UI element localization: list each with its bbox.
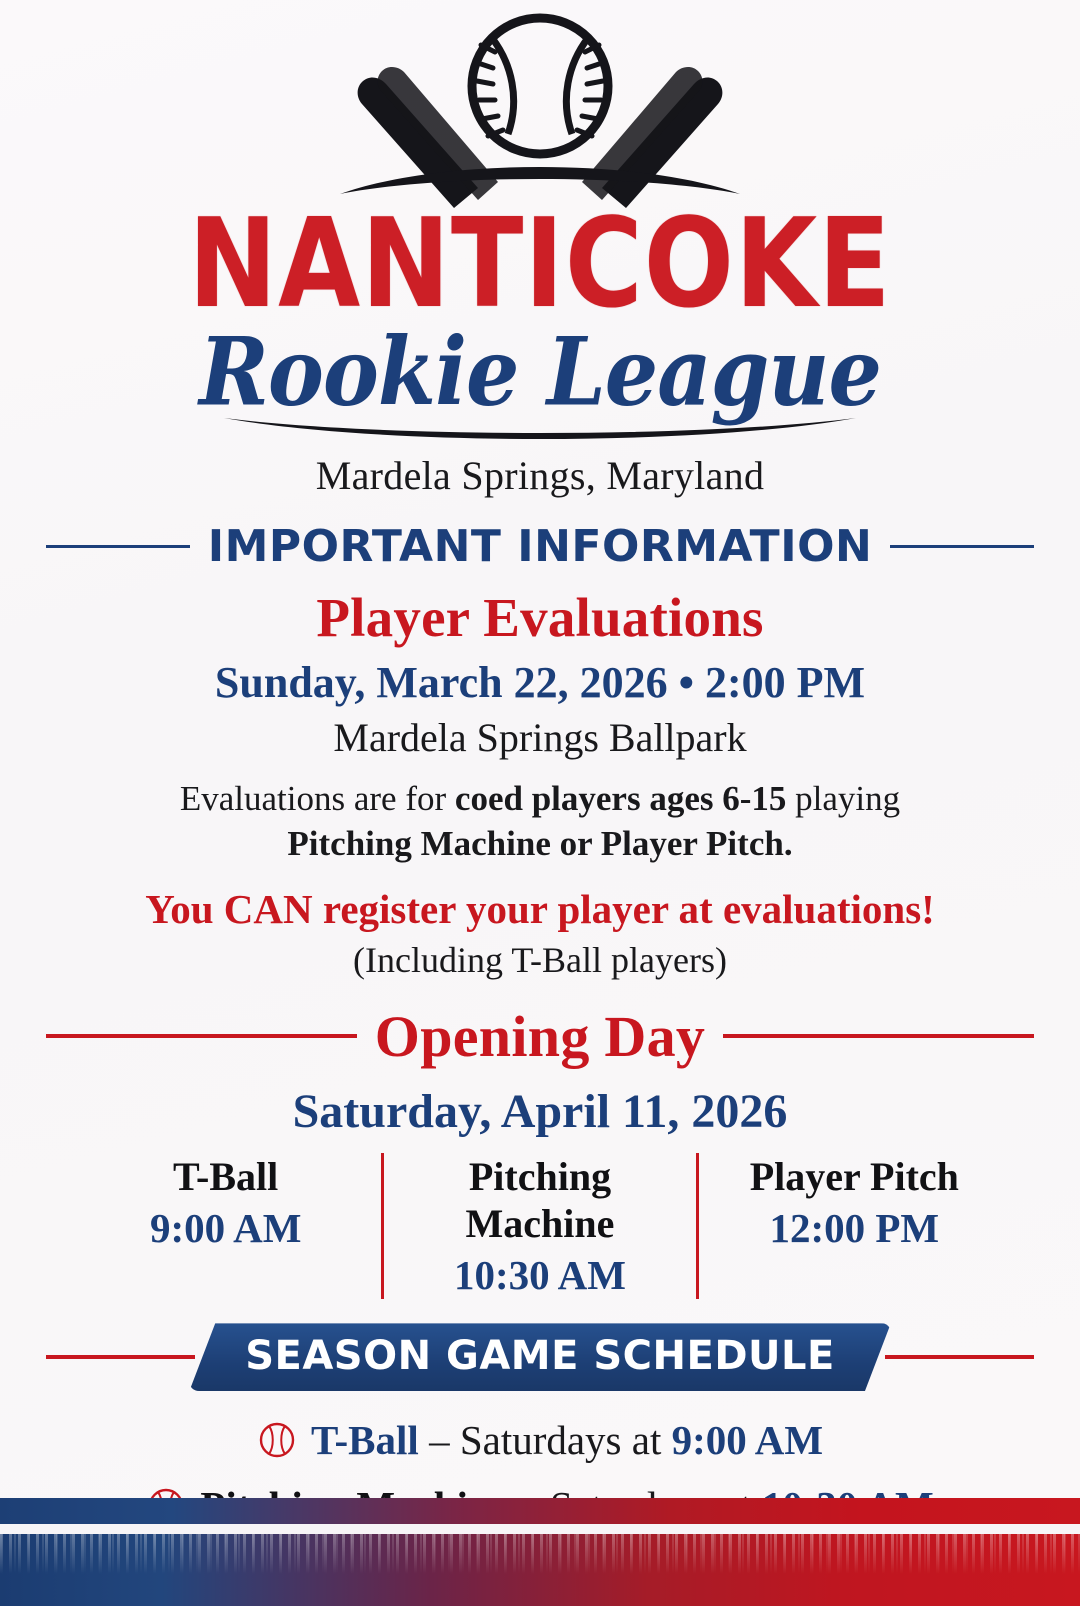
- logo-script-text: Rookie League: [199, 325, 881, 419]
- important-information-label: IMPORTANT INFORMATION: [208, 521, 873, 572]
- heading-rule-left: [46, 545, 190, 548]
- opening-rule-left: [46, 1034, 357, 1038]
- swoosh-underline-icon: [220, 412, 860, 446]
- division-time: 10:30 AM: [392, 1251, 687, 1299]
- evaluations-datetime: Sunday, March 22, 2026 • 2:00 PM: [0, 657, 1080, 708]
- logo-script-wrap: Rookie League: [0, 330, 1080, 438]
- opening-day-label: Opening Day: [375, 1003, 705, 1070]
- schedule-row-text: T-Ball – Saturdays at 9:00 AM: [311, 1416, 823, 1464]
- schedule-time: 9:00 AM: [672, 1417, 823, 1463]
- baseball-icon: [257, 1420, 297, 1460]
- schedule-row-tball: T-Ball – Saturdays at 9:00 AM: [0, 1407, 1080, 1473]
- eligibility-divisions: Pitching Machine or Player Pitch.: [287, 824, 792, 863]
- bottom-decorative-stripe: [0, 1498, 1080, 1606]
- banner-rule-left: [46, 1355, 195, 1359]
- eligibility-ages: coed players ages 6-15: [455, 779, 786, 818]
- eligibility-mid: playing: [786, 779, 900, 818]
- banner-rule-right: [885, 1355, 1034, 1359]
- schedule-dash: –: [419, 1417, 460, 1463]
- evaluations-eligibility-note: Evaluations are for coed players ages 6-…: [0, 777, 1080, 867]
- heading-rule-right: [890, 545, 1034, 548]
- league-logo: NANTICOKE Rookie League Mardela Springs,…: [0, 0, 1080, 499]
- opening-day-date: Saturday, April 11, 2026: [0, 1084, 1080, 1139]
- register-at-evaluations-callout: You CAN register your player at evaluati…: [0, 885, 1080, 933]
- schedule-division: T-Ball: [311, 1417, 419, 1463]
- season-game-schedule-banner: SEASON GAME SCHEDULE: [189, 1323, 891, 1391]
- stripe-grain-texture: [0, 1534, 1080, 1574]
- evaluations-venue: Mardela Springs Ballpark: [0, 714, 1080, 761]
- opening-rule-right: [723, 1034, 1034, 1038]
- division-time: 12:00 PM: [707, 1204, 1002, 1252]
- eligibility-pre: Evaluations are for: [180, 779, 455, 818]
- division-column: Player Pitch 12:00 PM: [696, 1153, 1010, 1300]
- division-name: Player Pitch: [707, 1153, 1002, 1200]
- including-tball-note: (Including T-Ball players): [0, 939, 1080, 981]
- stripe-thin-band: [0, 1498, 1080, 1524]
- division-column: Pitching Machine 10:30 AM: [381, 1153, 695, 1300]
- schedule-day: Saturdays at: [460, 1417, 672, 1463]
- league-location: Mardela Springs, Maryland: [0, 452, 1080, 499]
- important-information-heading: IMPORTANT INFORMATION: [0, 521, 1080, 572]
- opening-day-heading: Opening Day: [0, 1003, 1080, 1070]
- division-time: 9:00 AM: [78, 1204, 373, 1252]
- division-name: T-Ball: [78, 1153, 373, 1200]
- division-column: T-Ball 9:00 AM: [70, 1153, 381, 1300]
- opening-day-division-times: T-Ball 9:00 AM Pitching Machine 10:30 AM…: [0, 1153, 1080, 1300]
- baseball-crossed-bats-icon: [190, 8, 890, 208]
- flyer-poster: NANTICOKE Rookie League Mardela Springs,…: [0, 0, 1080, 1606]
- stripe-gap: [0, 1524, 1080, 1534]
- player-evaluations-title: Player Evaluations: [0, 586, 1080, 649]
- division-name: Pitching Machine: [392, 1153, 687, 1247]
- season-schedule-banner-row: SEASON GAME SCHEDULE: [0, 1323, 1080, 1391]
- logo-wordmark: NANTICOKE: [0, 202, 1080, 325]
